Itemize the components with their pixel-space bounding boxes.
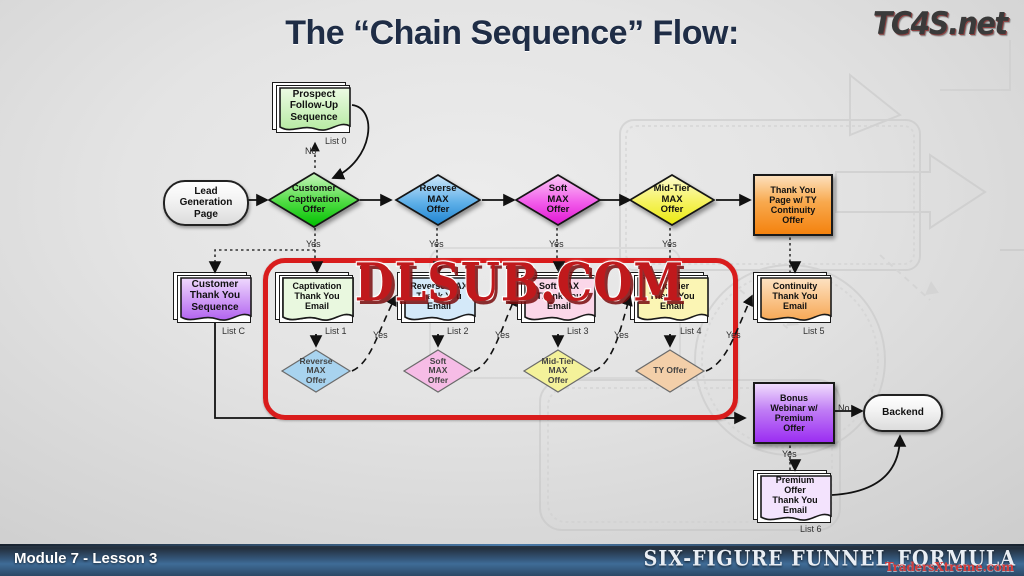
node-soft-max-offer[interactable]: Soft MAX Offer <box>514 173 602 227</box>
node-lead-generation-page-label: Lead Generation Page <box>165 182 247 224</box>
node-reverse-max-offer-repeat[interactable]: Reverse MAX Offer <box>280 348 352 394</box>
node-prospect-followup-sequence[interactable]: Prospect Follow-Up Sequence <box>272 82 352 138</box>
page-title: The “Chain Sequence” Flow: <box>0 14 1024 53</box>
node-thank-you-page[interactable]: Thank You Page w/ TY Continuity Offer <box>753 174 833 236</box>
node-backend[interactable]: Backend <box>863 394 943 432</box>
edge-label-yes-e1: Yes <box>373 330 388 340</box>
center-watermark: DLSUB.COM <box>355 253 684 313</box>
list-label-4: List 4 <box>680 326 702 336</box>
node-bonus-webinar-label: Bonus Webinar w/ Premium Offer <box>755 384 833 442</box>
node-customer-thank-you-sequence[interactable]: Customer Thank You Sequence <box>173 272 253 328</box>
node-premium-thank-you-email[interactable]: Premium Offer Thank You Email <box>753 470 833 528</box>
node-captivation-thank-you-email[interactable]: Captivation Thank You Email <box>275 272 355 328</box>
node-bonus-webinar[interactable]: Bonus Webinar w/ Premium Offer <box>753 382 835 444</box>
doc-front-shape <box>275 272 355 328</box>
node-continuity-thank-you-email[interactable]: Continuity Thank You Email <box>753 272 833 328</box>
brand-watermark: TC4S.net <box>872 6 1006 42</box>
list-label-prospect: List 0 <box>325 136 347 146</box>
node-customer-captivation-offer[interactable]: Customer Captivation Offer <box>267 171 361 229</box>
list-label-6: List 6 <box>800 524 822 534</box>
footer-module-label: Module 7 - Lesson 3 <box>14 550 157 567</box>
doc-front-shape <box>753 470 833 528</box>
edge-label-yes-e3: Yes <box>614 330 629 340</box>
footer-bar: Module 7 - Lesson 3 SIX-FIGURE FUNNEL FO… <box>0 544 1024 576</box>
slide-canvas: The “Chain Sequence” Flow: TC4S.net <box>0 0 1024 576</box>
node-soft-max-offer-repeat[interactable]: Soft MAX Offer <box>402 348 474 394</box>
list-label-5: List 5 <box>803 326 825 336</box>
edge-label-yes-midtier: Yes <box>662 239 677 249</box>
node-ty-offer[interactable]: TY Offer <box>634 348 706 394</box>
node-mid-tier-max-offer[interactable]: Mid-Tier MAX Offer <box>628 173 716 227</box>
node-thank-you-page-label: Thank You Page w/ TY Continuity Offer <box>755 176 831 234</box>
footer-watermark: TradersXtreme.com <box>885 560 1014 574</box>
node-reverse-max-offer[interactable]: Reverse MAX Offer <box>394 173 482 227</box>
edge-label-yes-reverse: Yes <box>429 239 444 249</box>
node-backend-label: Backend <box>865 396 941 430</box>
list-label-3: List 3 <box>567 326 589 336</box>
edge-label-no-backend: No <box>838 403 850 413</box>
edge-label-yes-soft: Yes <box>549 239 564 249</box>
doc-front-shape <box>173 272 253 328</box>
edge-label-yes-captivation: Yes <box>306 239 321 249</box>
doc-front-shape <box>272 82 352 138</box>
node-lead-generation-page[interactable]: Lead Generation Page <box>163 180 249 226</box>
edge-label-no-top: No <box>305 146 317 156</box>
edge-label-yes-e2: Yes <box>495 330 510 340</box>
list-label-2: List 2 <box>447 326 469 336</box>
edge-label-yes-e4: Yes <box>726 330 741 340</box>
doc-front-shape <box>753 272 833 328</box>
list-label-c: List C <box>222 326 245 336</box>
edge-label-yes-premium: Yes <box>782 449 797 459</box>
list-label-1: List 1 <box>325 326 347 336</box>
node-mid-tier-max-offer-repeat[interactable]: Mid-Tier MAX Offer <box>522 348 594 394</box>
